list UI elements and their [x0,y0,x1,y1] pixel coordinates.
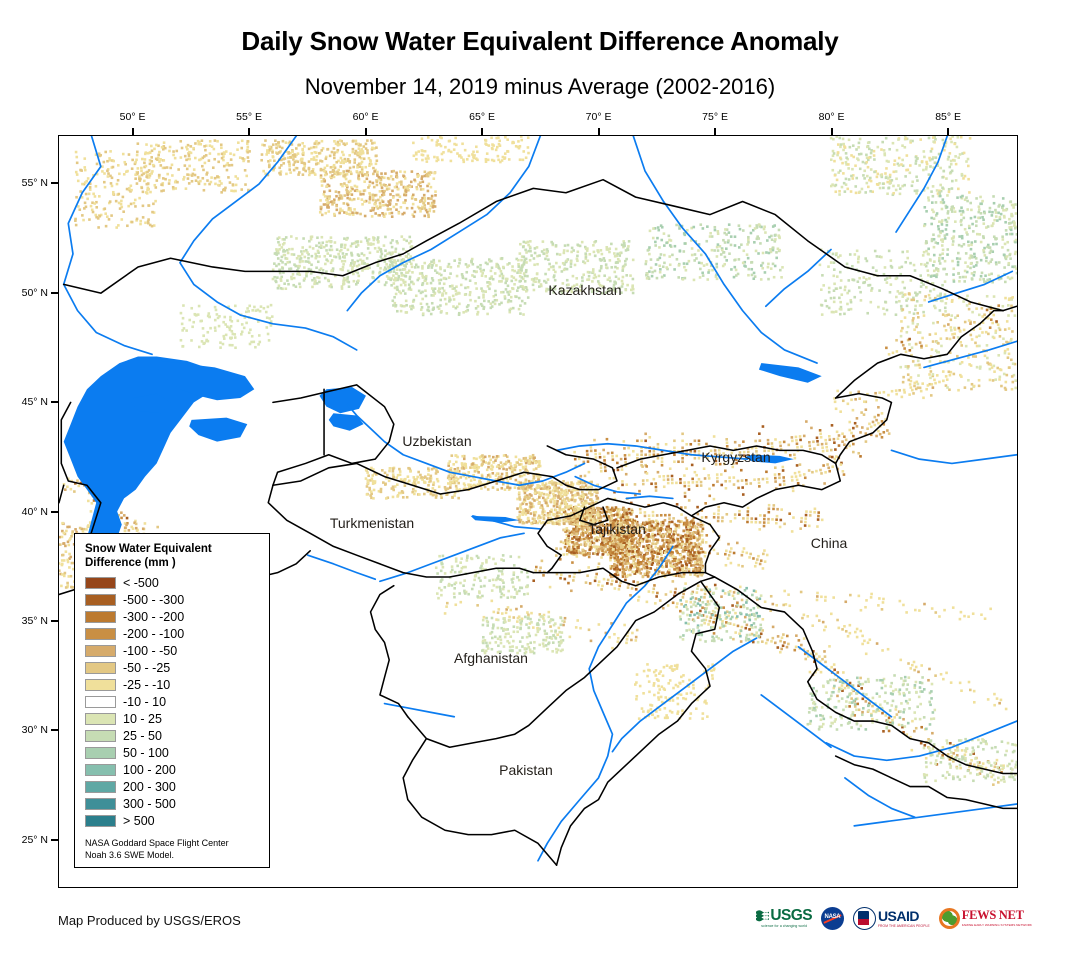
lon-tick [132,128,134,135]
legend-swatch [85,798,116,810]
lon-tick [714,128,716,135]
legend-label: -25 - -10 [123,678,170,692]
lon-tick [831,128,833,135]
lon-tick [947,128,949,135]
map-page: Daily Snow Water Equivalent Difference A… [0,0,1080,960]
legend-source-line2: Noah 3.6 SWE Model. [85,849,261,861]
legend-title-line2: Difference (mm ) [85,556,261,570]
legend-swatch [85,730,116,742]
legend-row: 300 - 500 [83,796,261,813]
legend-swatch [85,662,116,674]
legend-label: -10 - 10 [123,695,166,709]
legend-label: 300 - 500 [123,797,176,811]
legend-label: 25 - 50 [123,729,162,743]
legend-row: -300 - -200 [83,609,261,626]
legend-panel: Snow Water Equivalent Difference (mm ) <… [74,533,270,868]
usaid-seal-icon [853,907,876,930]
legend-swatch [85,696,116,708]
nasa-wordmark: NASA [821,914,844,920]
lat-label: 50° N [8,287,48,299]
footer-credit: Map Produced by USGS/EROS [58,913,241,928]
legend-swatch [85,713,116,725]
fews-globe-icon [939,908,960,929]
legend-label: < -500 [123,576,159,590]
legend-swatch [85,781,116,793]
legend-row: 50 - 100 [83,745,261,762]
legend-title: Snow Water Equivalent Difference (mm ) [85,542,261,571]
legend-row: -200 - -100 [83,626,261,643]
usaid-logo: USAID FROM THE AMERICAN PEOPLE [853,905,930,931]
legend-row: 10 - 25 [83,711,261,728]
page-title: Daily Snow Water Equivalent Difference A… [0,26,1080,57]
usgs-tagline: science for a changing world [761,924,807,928]
legend-title-line1: Snow Water Equivalent [85,542,261,556]
lon-label: 65° E [469,111,495,123]
legend-swatch [85,594,116,606]
lat-label: 25° N [8,834,48,846]
page-subtitle: November 14, 2019 minus Average (2002-20… [0,74,1080,100]
legend-swatch [85,611,116,623]
lat-label: 45° N [8,396,48,408]
lat-label: 35° N [8,615,48,627]
legend-swatch [85,577,116,589]
lon-label: 70° E [586,111,612,123]
lon-tick [365,128,367,135]
legend-swatch [85,628,116,640]
usaid-tagline: FROM THE AMERICAN PEOPLE [878,924,930,928]
legend-row: > 500 [83,813,261,830]
fews-net-logo: FEWS NET FAMINE EARLY WARNING SYSTEMS NE… [939,905,1032,931]
legend-row: 25 - 50 [83,728,261,745]
legend-row: -25 - -10 [83,677,261,694]
legend-row: 200 - 300 [83,779,261,796]
legend-row: < -500 [83,575,261,592]
legend-label: 100 - 200 [123,763,176,777]
legend-swatch [85,764,116,776]
legend-row: -10 - 10 [83,694,261,711]
legend-row: -100 - -50 [83,643,261,660]
lon-tick [248,128,250,135]
usgs-logo: USGS science for a changing world [756,905,812,931]
lon-label: 60° E [353,111,379,123]
legend-label: -100 - -50 [123,644,177,658]
lon-tick [481,128,483,135]
usgs-wave-icon [756,909,769,922]
legend-swatch [85,679,116,691]
lat-label: 55° N [8,177,48,189]
legend-swatch [85,747,116,759]
legend-row: -50 - -25 [83,660,261,677]
legend-label: -300 - -200 [123,610,184,624]
lon-label: 50° E [120,111,146,123]
legend-row: 100 - 200 [83,762,261,779]
logo-bar: USGS science for a changing world NASA U… [756,903,1032,933]
lon-label: 75° E [702,111,728,123]
lon-label: 85° E [935,111,961,123]
legend-label: > 500 [123,814,155,828]
legend-source-line1: NASA Goddard Space Flight Center [85,837,261,849]
lon-tick [598,128,600,135]
lon-label: 55° E [236,111,262,123]
legend-label: 200 - 300 [123,780,176,794]
lat-label: 40° N [8,506,48,518]
fews-wordmark: FEWS NET [962,909,1032,922]
nasa-logo: NASA [821,905,844,931]
lat-label: 30° N [8,724,48,736]
usgs-wordmark: USGS [770,908,812,924]
legend-class-list: < -500-500 - -300-300 - -200-200 - -100-… [83,575,261,830]
legend-label: -500 - -300 [123,593,184,607]
legend-label: -50 - -25 [123,661,170,675]
lon-label: 80° E [819,111,845,123]
usaid-wordmark: USAID [878,909,930,923]
legend-label: 10 - 25 [123,712,162,726]
legend-label: 50 - 100 [123,746,169,760]
legend-swatch [85,645,116,657]
legend-label: -200 - -100 [123,627,184,641]
legend-row: -500 - -300 [83,592,261,609]
fews-tagline: FAMINE EARLY WARNING SYSTEMS NETWORK [962,923,1032,927]
legend-source-note: NASA Goddard Space Flight Center Noah 3.… [85,837,261,861]
legend-swatch [85,815,116,827]
